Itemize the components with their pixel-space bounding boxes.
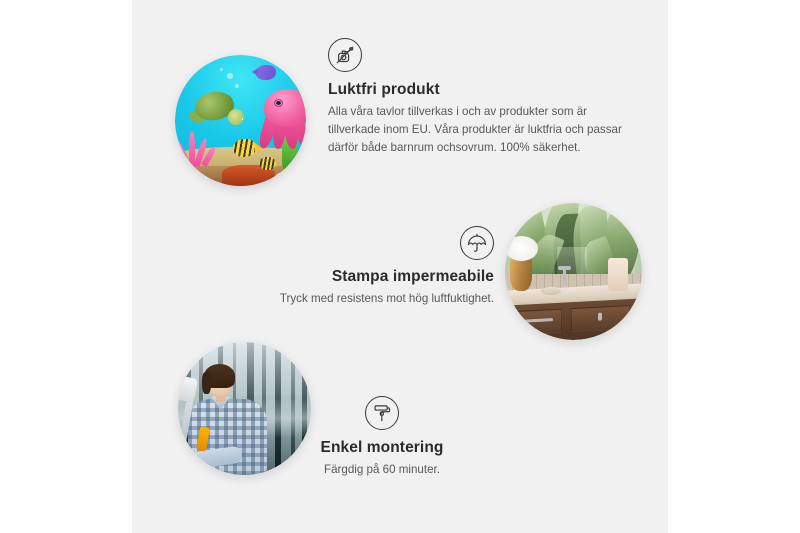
faucet-icon bbox=[563, 269, 566, 285]
product-image-sea[interactable] bbox=[175, 55, 306, 186]
feature-block-waterproof: Stampa impermeabile Tryck med resistens … bbox=[152, 226, 494, 308]
bubble-icon bbox=[235, 84, 239, 88]
feature-description: Tryck med resistens mot hög luftfuktighe… bbox=[152, 290, 494, 308]
octopus-icon bbox=[259, 89, 306, 149]
pink-coral-icon bbox=[178, 131, 217, 168]
bathroom-image-inner bbox=[505, 203, 642, 340]
bathroom-vanity bbox=[505, 298, 642, 340]
purple-fish-icon bbox=[256, 65, 276, 79]
feature-description: Färgdig på 60 minuter. bbox=[252, 461, 512, 479]
flowers-icon bbox=[505, 236, 538, 261]
product-image-bathroom[interactable] bbox=[505, 203, 642, 340]
feature-panel: Luktfri produkt Alla våra tavlor tillver… bbox=[132, 0, 668, 533]
feature-title: Stampa impermeabile bbox=[152, 267, 494, 287]
turtle-icon bbox=[188, 92, 240, 131]
feature-block-assembly: Enkel montering Färgdig på 60 minuter. bbox=[252, 396, 512, 479]
umbrella-icon bbox=[460, 226, 494, 260]
feature-title: Luktfri produkt bbox=[328, 80, 628, 100]
feature-title: Enkel montering bbox=[252, 438, 512, 458]
no-scent-spray-bottle-icon bbox=[328, 38, 362, 72]
towel-icon bbox=[608, 258, 629, 291]
sea-image-inner bbox=[175, 55, 306, 186]
sea-shell-icon bbox=[275, 172, 293, 184]
bubble-icon bbox=[227, 73, 232, 78]
feature-description: Alla våra tavlor tillverkas i och av pro… bbox=[328, 103, 624, 157]
feature-block-odourless: Luktfri produkt Alla våra tavlor tillver… bbox=[328, 38, 628, 157]
paint-roller-icon bbox=[365, 396, 399, 430]
screenshot-root: Luktfri produkt Alla våra tavlor tillver… bbox=[0, 0, 800, 533]
soap-dish-icon bbox=[541, 287, 562, 295]
